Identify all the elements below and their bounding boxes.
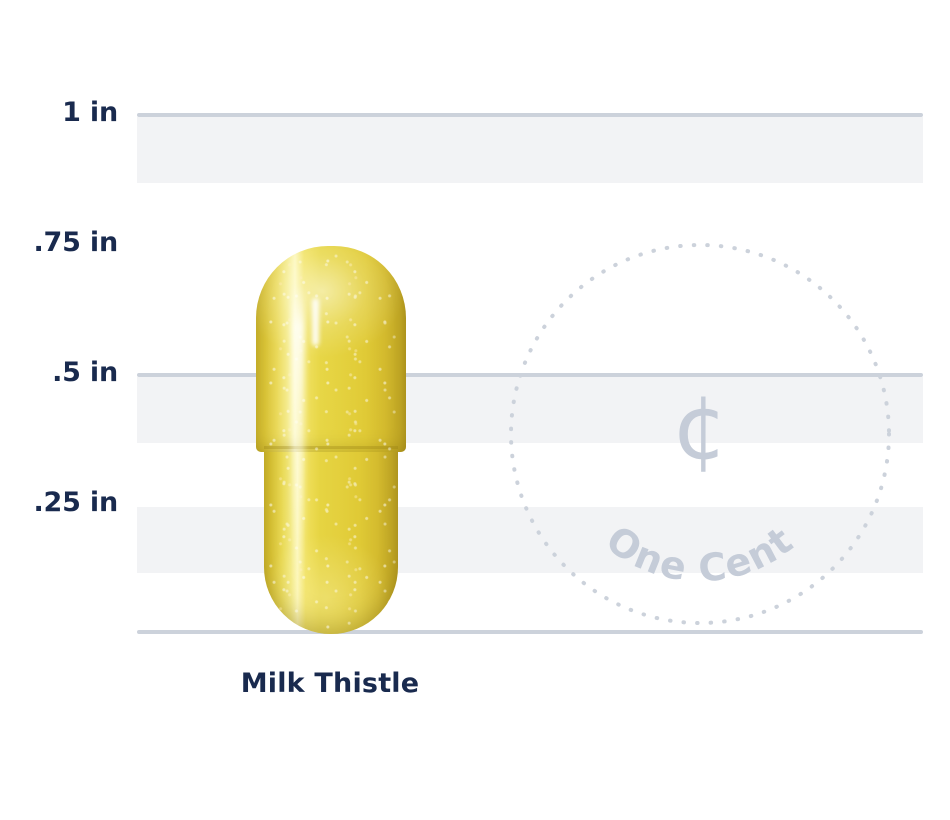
band-1in-to-075in xyxy=(137,117,923,183)
coin-legend-text: One Cent xyxy=(598,517,801,591)
axis-tick-025in: .25 in xyxy=(0,489,118,516)
one-cent-reference: ¢ One Cent xyxy=(509,243,891,625)
size-comparison-chart: ¢ One Cent 1 in .75 in .5 in .25 in Milk… xyxy=(0,0,950,820)
axis-tick-075in: .75 in xyxy=(0,229,118,256)
coin-cent-symbol: ¢ xyxy=(672,376,728,479)
gridline-1in xyxy=(137,113,923,117)
plot-area: ¢ One Cent xyxy=(137,113,923,634)
product-label: Milk Thistle xyxy=(180,668,480,699)
capsule-milk-thistle xyxy=(256,246,406,636)
axis-tick-1in: 1 in xyxy=(0,99,118,126)
capsule-cap xyxy=(256,246,406,452)
axis-tick-05in: .5 in xyxy=(0,359,118,386)
gridline-baseline xyxy=(137,630,923,634)
